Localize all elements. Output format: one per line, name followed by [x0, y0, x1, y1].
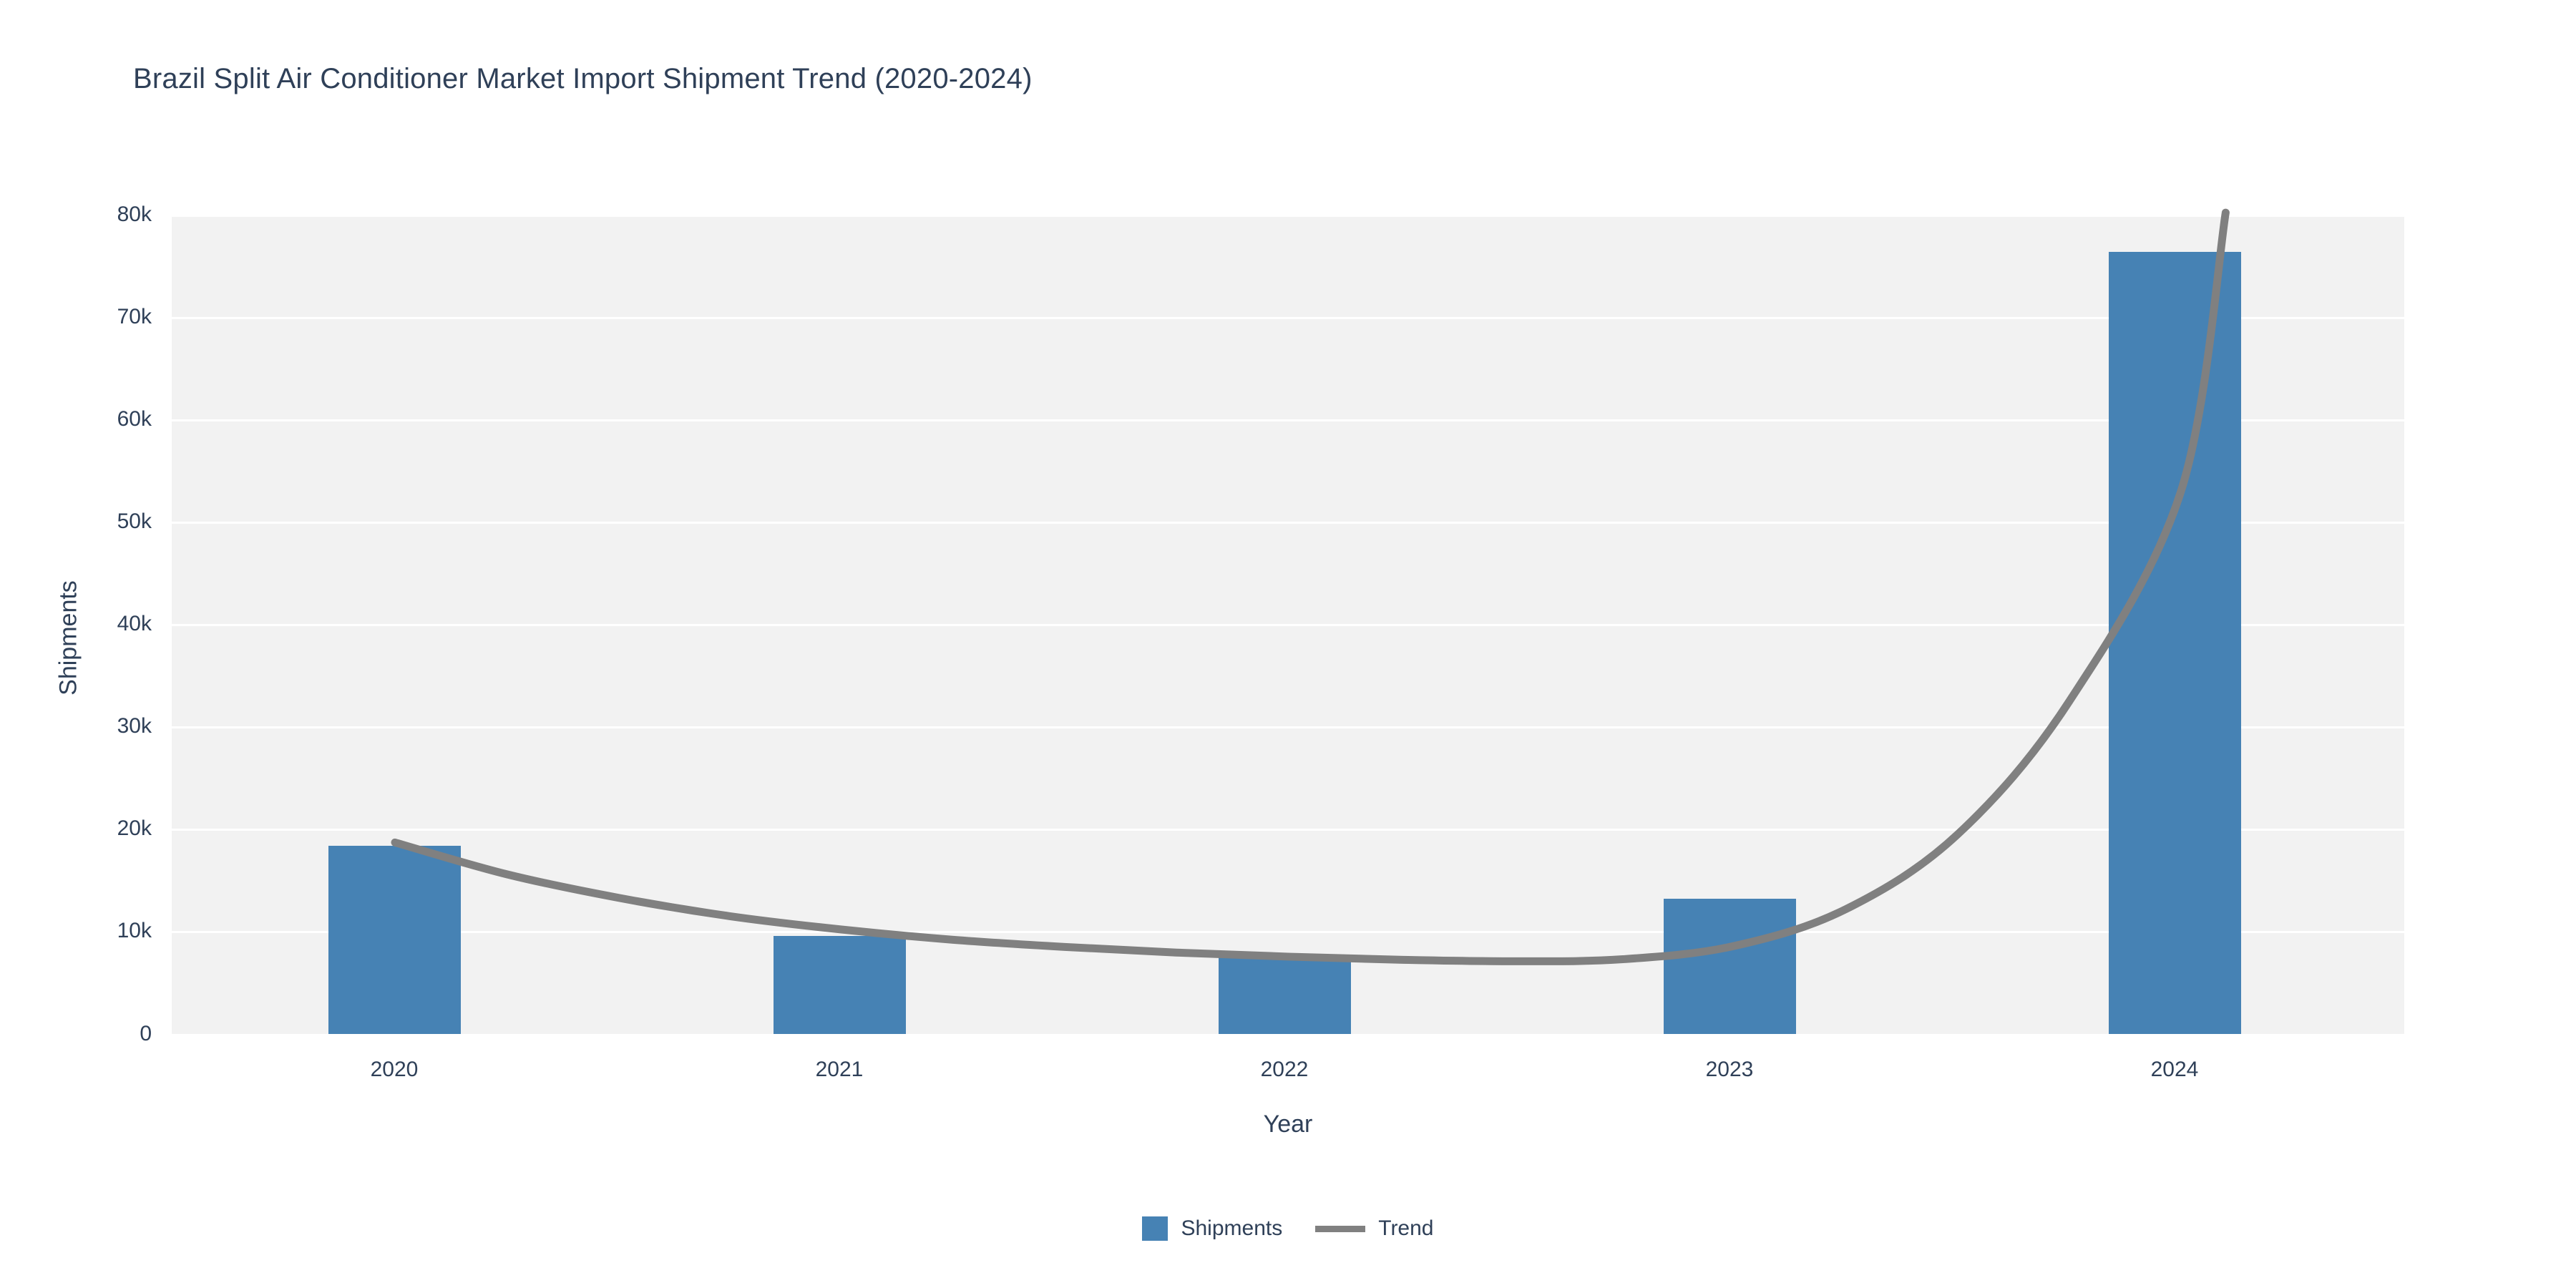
chart-figure: Brazil Split Air Conditioner Market Impo… [0, 0, 2576, 1288]
x-tick-label: 2021 [816, 1058, 864, 1082]
y-axis-title: Shipments [55, 552, 83, 724]
x-tick-label: 2020 [371, 1058, 419, 1082]
y-tick-label: 20k [117, 816, 152, 841]
y-tick-label: 60k [117, 407, 152, 431]
legend-item-trend[interactable]: Trend [1315, 1216, 1433, 1241]
trend-line[interactable] [395, 213, 2225, 961]
x-axis-title: Year [0, 1111, 2576, 1138]
legend-line-swatch-icon [1315, 1226, 1365, 1232]
legend-item-shipments[interactable]: Shipments [1142, 1216, 1282, 1241]
chart-title: Brazil Split Air Conditioner Market Impo… [133, 63, 1033, 95]
y-tick-label: 0 [140, 1022, 152, 1046]
x-tick-label: 2024 [2151, 1058, 2199, 1082]
y-tick-label: 80k [117, 203, 152, 227]
plot-area [172, 215, 2404, 1034]
chart-legend: Shipments Trend [0, 1216, 2576, 1241]
y-tick-label: 40k [117, 612, 152, 636]
y-tick-label: 30k [117, 714, 152, 738]
legend-bar-swatch-icon [1142, 1216, 1168, 1241]
y-tick-label: 70k [117, 305, 152, 329]
x-tick-label: 2023 [1706, 1058, 1754, 1082]
legend-label: Trend [1378, 1216, 1433, 1241]
trend-line-layer [172, 215, 2404, 1034]
y-tick-label: 10k [117, 919, 152, 943]
legend-label: Shipments [1181, 1216, 1282, 1241]
x-tick-label: 2022 [1261, 1058, 1309, 1082]
y-tick-label: 50k [117, 509, 152, 534]
